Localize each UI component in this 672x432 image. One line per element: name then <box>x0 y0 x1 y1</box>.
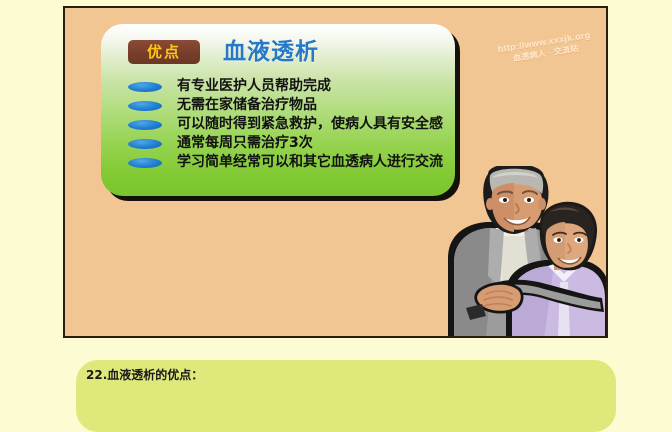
bullet-ellipse-icon <box>128 158 162 168</box>
bullet-item-label: 无需在家储备治疗物品 <box>177 95 317 115</box>
bullet-ellipse-icon <box>128 101 162 111</box>
bullet-item-label: 可以随时得到紧急救护，使病人具有安全感 <box>177 114 443 134</box>
answer-bar[interactable]: 22.血液透析的优点： <box>76 360 616 432</box>
answer-question-label: 22.血液透析的优点： <box>86 366 203 383</box>
panel-title: 血液透析 <box>223 38 319 66</box>
bullet-item-label: 通常每周只需治疗3次 <box>177 133 313 153</box>
advantages-badge: 优点 <box>128 40 200 64</box>
bullet-item-label: 有专业医护人员帮助完成 <box>177 76 331 96</box>
bullet-item-label: 学习简单经常可以和其它血透病人进行交流 <box>177 152 443 172</box>
bullet-ellipse-icon <box>128 82 162 92</box>
bullet-list: 有专业医护人员帮助完成 无需在家储备治疗物品 可以随时得到紧急救护，使病人具有安… <box>101 77 455 172</box>
bullet-item: 通常每周只需治疗3次 <box>101 134 455 153</box>
bullet-ellipse-icon <box>128 139 162 149</box>
bullet-item: 学习简单经常可以和其它血透病人进行交流 <box>101 153 455 172</box>
bullet-item: 无需在家储备治疗物品 <box>101 96 455 115</box>
watermark: http://www.xxxjk.org 血透病人 · 交流站 <box>489 28 601 69</box>
slide-frame: http://www.xxxjk.org 血透病人 · 交流站 优点 血液透析 … <box>63 6 608 338</box>
bullet-item: 有专业医护人员帮助完成 <box>101 77 455 96</box>
watermark-line-1: http://www.xxxjk.org <box>489 28 600 57</box>
elderly-couple-illustration <box>430 166 608 338</box>
bullet-ellipse-icon <box>128 120 162 130</box>
watermark-line-2: 血透病人 · 交流站 <box>491 39 602 68</box>
bullet-item: 可以随时得到紧急救护，使病人具有安全感 <box>101 115 455 134</box>
title-row: 优点 血液透析 <box>101 40 455 70</box>
content-panel: 优点 血液透析 有专业医护人员帮助完成 无需在家储备治疗物品 可以随时得到紧急救… <box>101 24 455 196</box>
